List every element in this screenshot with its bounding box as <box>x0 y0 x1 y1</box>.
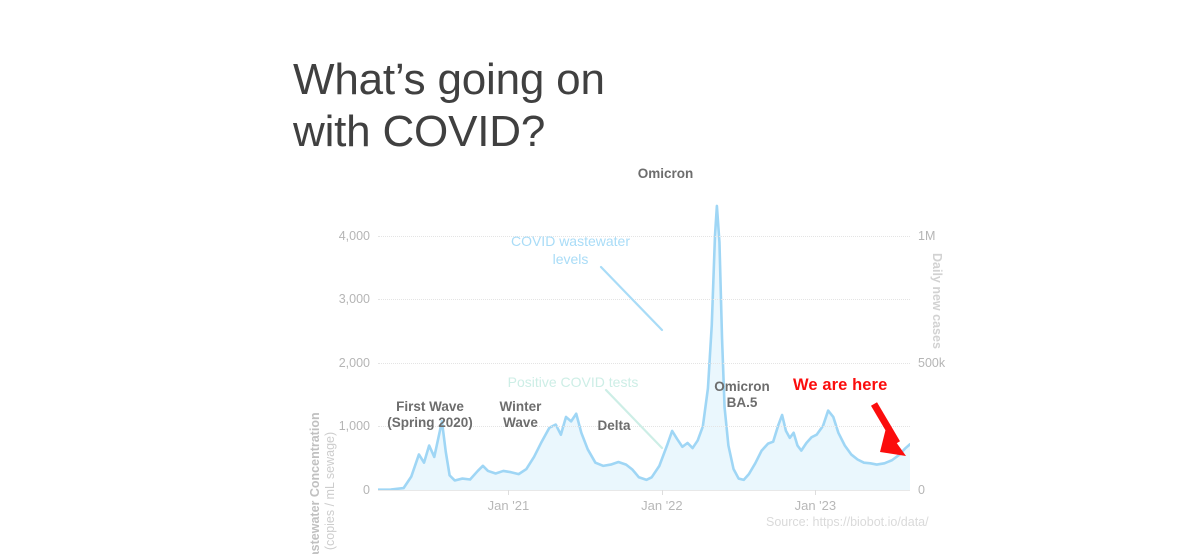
gridline <box>378 299 910 300</box>
legend-label-wastewater: COVID wastewater levels <box>498 232 643 268</box>
y-axis-subtitle-left: (copies / mL sewage) <box>323 396 338 554</box>
y2-axis-tick-label: 0 <box>918 483 925 497</box>
series-svg <box>378 185 910 490</box>
y-axis-title-units: (copies / mL sewage) <box>323 396 338 554</box>
axis-baseline <box>378 490 910 491</box>
covid-chart: Wastewater Concentration (copies / mL se… <box>290 160 950 530</box>
annotation-delta: Delta <box>573 418 655 434</box>
y-axis-title-main: Wastewater Concentration <box>308 396 323 554</box>
annotation-omicron-ba5: Omicron BA.5 <box>693 379 791 411</box>
x-axis-tick-mark <box>662 490 663 495</box>
y-axis-tick-label: 2,000 <box>339 356 370 370</box>
y-axis-tick-label: 4,000 <box>339 229 370 243</box>
y-axis-title-left: Wastewater Concentration <box>308 396 323 554</box>
legend-label-positive-tests: Positive COVID tests <box>498 374 648 390</box>
y-axis-tick-label: 3,000 <box>339 292 370 306</box>
x-axis-tick-mark <box>508 490 509 495</box>
x-axis-tick-label: Jan '22 <box>641 498 683 513</box>
gridline <box>378 363 910 364</box>
slide-canvas: What’s going on with COVID? Wastewater C… <box>0 0 1200 554</box>
y2-axis-tick-label: 1M <box>918 229 935 243</box>
plot-region: 01,0002,0003,0004,0000500k1MJan '21Jan '… <box>378 185 910 490</box>
y-axis-title-right: Daily new cases <box>930 253 944 393</box>
annotation-we-are-here: We are here <box>793 376 887 395</box>
y-axis-tick-label: 0 <box>363 483 370 497</box>
annotation-omicron: Omicron <box>598 166 733 182</box>
annotation-winter-wave: Winter Wave <box>473 399 568 431</box>
gridline <box>378 236 910 237</box>
source-caption: Source: https://biobot.io/data/ <box>766 515 929 529</box>
x-axis-tick-label: Jan '21 <box>488 498 530 513</box>
page-title: What’s going on with COVID? <box>293 54 713 158</box>
x-axis-tick-label: Jan '23 <box>795 498 837 513</box>
x-axis-tick-mark <box>815 490 816 495</box>
series-area-wastewater <box>378 206 910 490</box>
